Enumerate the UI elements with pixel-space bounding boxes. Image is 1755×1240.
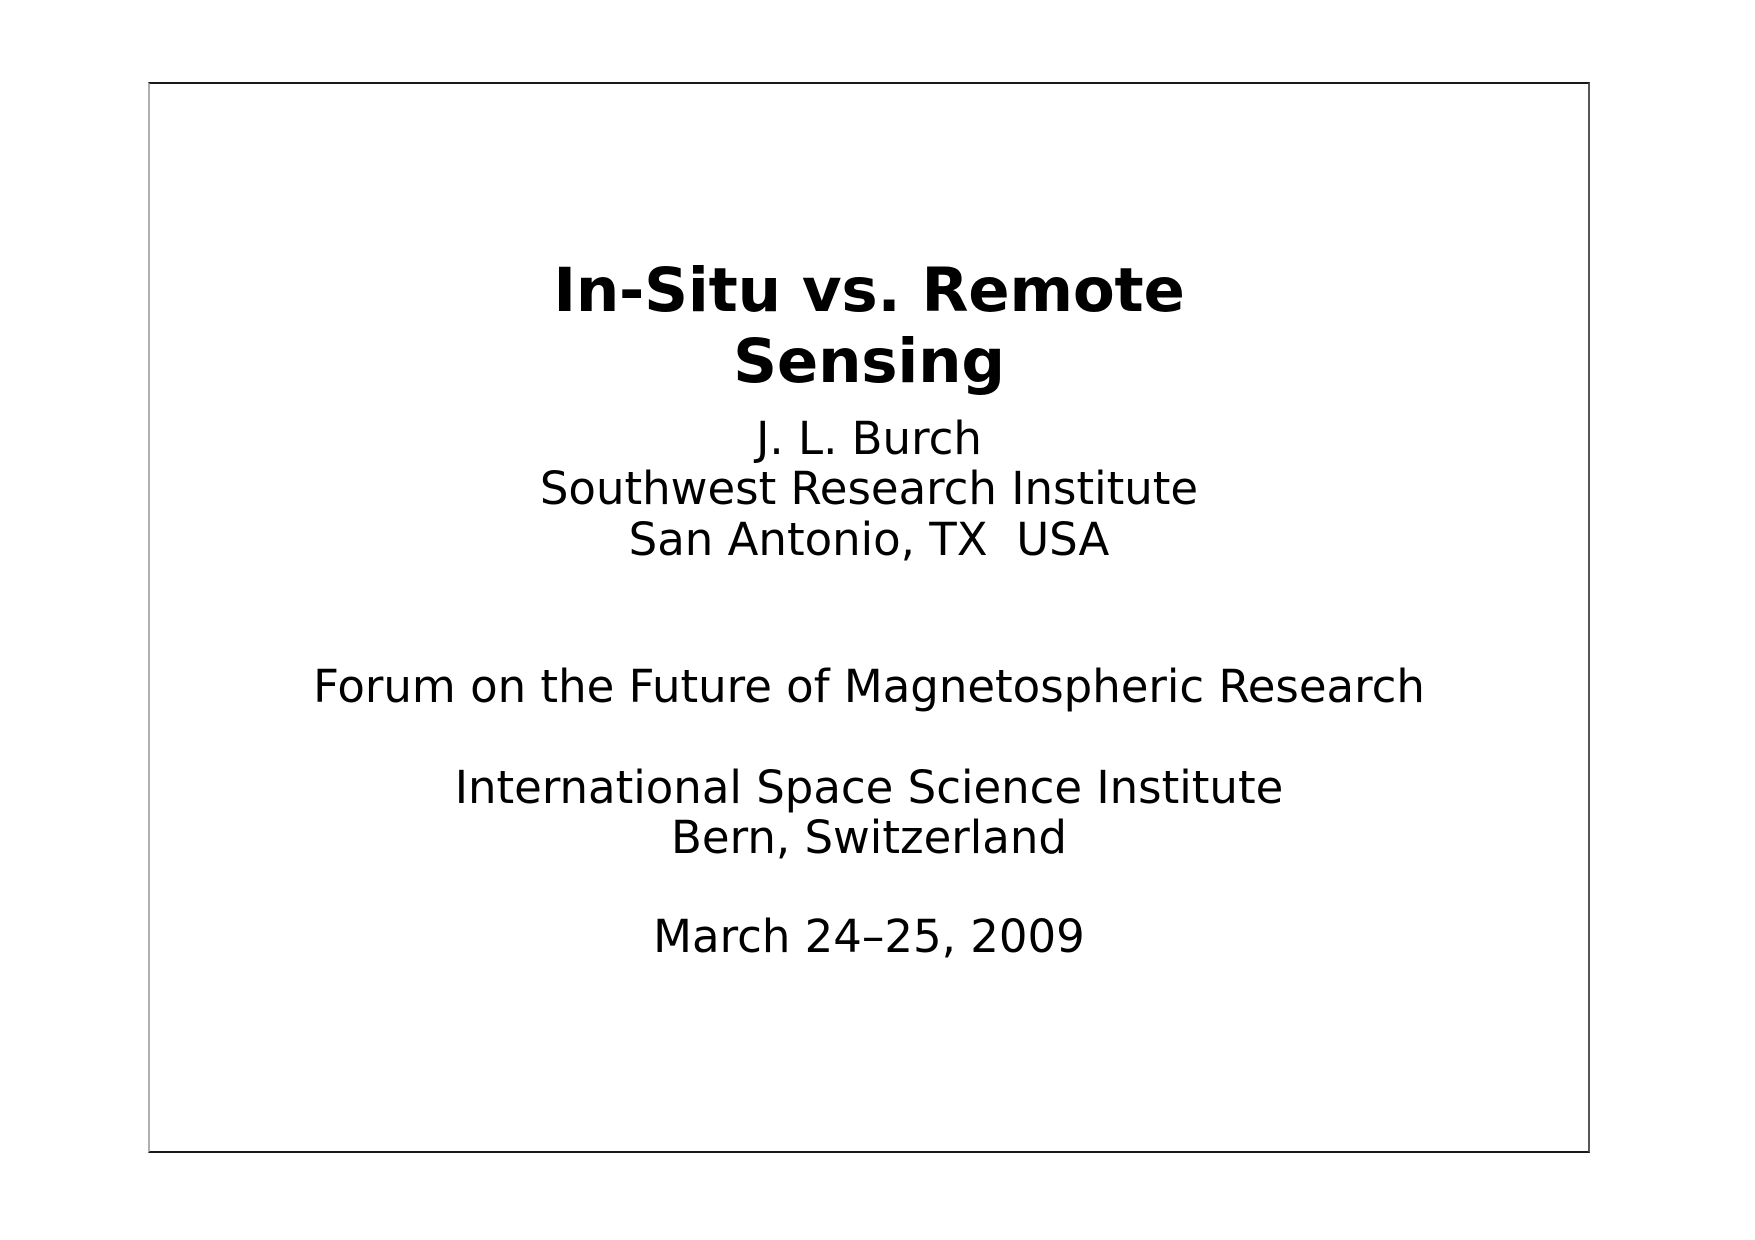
slide-frame: In-Situ vs. Remote Sensing J. L. Burch S… bbox=[148, 82, 1590, 1153]
event-venue-block: International Space Science Institute Be… bbox=[150, 763, 1588, 864]
author-name: J. L. Burch bbox=[150, 414, 1588, 464]
event-date: March 24–25, 2009 bbox=[150, 912, 1588, 962]
author-location: San Antonio, TX USA bbox=[150, 515, 1588, 565]
event-venue-city: Bern, Switzerland bbox=[150, 813, 1588, 863]
author-affiliation: Southwest Research Institute bbox=[150, 464, 1588, 514]
slide-content: In-Situ vs. Remote Sensing J. L. Burch S… bbox=[150, 84, 1588, 1151]
page-title: In-Situ vs. Remote Sensing bbox=[150, 256, 1588, 398]
event-forum-name: Forum on the Future of Magnetospheric Re… bbox=[150, 662, 1588, 712]
event-venue-name: International Space Science Institute bbox=[150, 763, 1588, 813]
author-block: J. L. Burch Southwest Research Institute… bbox=[150, 414, 1588, 565]
